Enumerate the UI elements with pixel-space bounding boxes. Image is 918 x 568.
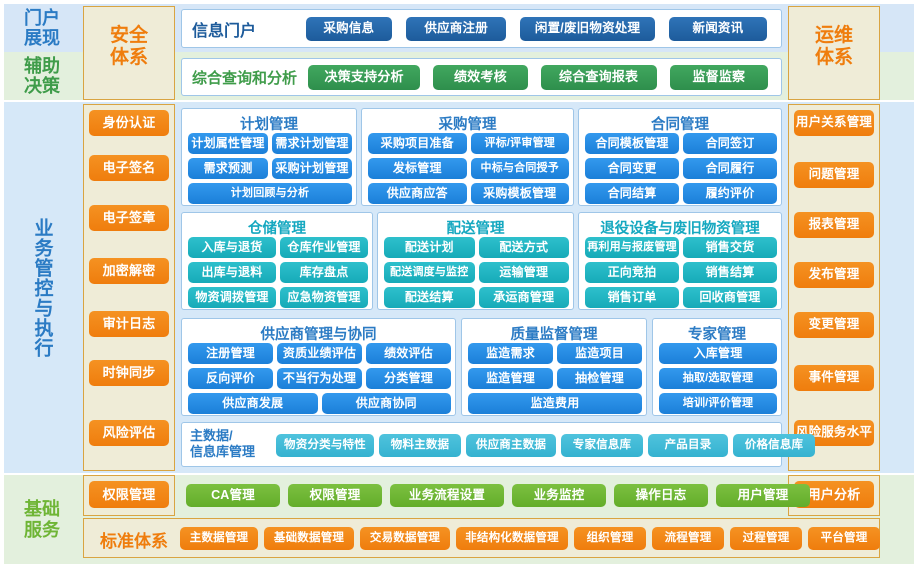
master-data-item-4[interactable]: 产品目录 bbox=[648, 434, 728, 457]
group-r2-2-item-2-0[interactable]: 销售订单 bbox=[585, 287, 679, 308]
group-r3-2: 专家管理入库管理抽取/选取管理培训/评价管理 bbox=[652, 318, 782, 416]
group-r3-1-item-0-0[interactable]: 监造需求 bbox=[468, 343, 553, 364]
group-r1-1-item-1-1[interactable]: 中标与合同授予 bbox=[471, 158, 570, 179]
group-r2-0-item-2-0[interactable]: 物资调拨管理 bbox=[188, 287, 276, 308]
group-r2-0-title: 仓储管理 bbox=[182, 217, 372, 238]
base-service-item-0[interactable]: CA管理 bbox=[186, 484, 280, 507]
group-r1-1-title: 采购管理 bbox=[362, 113, 573, 134]
group-r2-2-item-2-1[interactable]: 回收商管理 bbox=[683, 287, 777, 308]
portal-strip-title: 信息门户 bbox=[192, 17, 306, 41]
architecture-diagram: 门户展现辅助决策业务管控与执行基础服务安全体系身份认证电子签名电子签章加密解密审… bbox=[0, 0, 918, 568]
group-r2-0-item-2-1[interactable]: 应急物资管理 bbox=[280, 287, 368, 308]
ops-item-5[interactable]: 事件管理 bbox=[794, 365, 874, 391]
group-r3-1-title: 质量监督管理 bbox=[462, 323, 646, 344]
group-r1-2-item-2-1[interactable]: 履约评价 bbox=[683, 183, 777, 204]
left-label-base: 基础服务 bbox=[8, 477, 76, 562]
decision-strip-title: 综合查询和分析 bbox=[192, 67, 308, 88]
security-item-6[interactable]: 风险评估 bbox=[89, 420, 169, 446]
group-r3-0-item-1-1[interactable]: 不当行为处理 bbox=[277, 368, 362, 389]
portal-item-1[interactable]: 供应商注册 bbox=[406, 17, 506, 41]
ops-item-2[interactable]: 报表管理 bbox=[794, 212, 874, 238]
security-item-7[interactable]: 权限管理 bbox=[89, 481, 169, 508]
group-r2-0-item-1-1[interactable]: 库存盘点 bbox=[280, 262, 368, 283]
group-r3-1: 质量监督管理监造需求监造项目监造管理抽检管理监造费用 bbox=[461, 318, 647, 416]
group-r2-0-item-0-0[interactable]: 入库与退货 bbox=[188, 237, 276, 258]
ops-item-1[interactable]: 问题管理 bbox=[794, 162, 874, 188]
group-r1-1-item-2-0[interactable]: 供应商应答 bbox=[368, 183, 467, 204]
decision-strip: 综合查询和分析决策支持分析绩效考核综合查询报表监督监察 bbox=[181, 58, 782, 96]
group-r1-0-title: 计划管理 bbox=[182, 113, 356, 134]
portal-item-3[interactable]: 新闻资讯 bbox=[669, 17, 767, 41]
group-r3-2-item-1-0[interactable]: 抽取/选取管理 bbox=[659, 368, 777, 389]
group-r1-0-item-1-0[interactable]: 需求预测 bbox=[188, 158, 268, 179]
portal-strip: 信息门户采购信息供应商注册闲置/废旧物资处理新闻资讯 bbox=[181, 9, 782, 48]
group-r1-0-item-0-0[interactable]: 计划属性管理 bbox=[188, 133, 268, 154]
master-data-title: 主数据/信息库管理 bbox=[190, 428, 272, 461]
group-r2-1-item-2-1[interactable]: 承运商管理 bbox=[479, 287, 570, 308]
ops-item-3[interactable]: 发布管理 bbox=[794, 262, 874, 288]
group-r3-0: 供应商管理与协同注册管理资质业绩评估绩效评估反向评价不当行为处理分类管理供应商发… bbox=[181, 318, 456, 416]
group-r3-0-item-2-1[interactable]: 供应商协同 bbox=[322, 393, 452, 414]
group-r1-2-item-1-1[interactable]: 合同履行 bbox=[683, 158, 777, 179]
security-item-3[interactable]: 加密解密 bbox=[89, 258, 169, 284]
group-r3-2-title: 专家管理 bbox=[653, 323, 781, 344]
standard-item-6[interactable]: 过程管理 bbox=[730, 527, 802, 550]
master-data-item-0[interactable]: 物资分类与特性 bbox=[276, 434, 374, 457]
group-r1-1-item-2-1[interactable]: 采购模板管理 bbox=[471, 183, 570, 204]
master-data-item-1[interactable]: 物料主数据 bbox=[379, 434, 461, 457]
master-data-item-5[interactable]: 价格信息库 bbox=[733, 434, 815, 457]
group-r3-1-item-0-1[interactable]: 监造项目 bbox=[557, 343, 642, 364]
group-r2-0-item-1-0[interactable]: 出库与退料 bbox=[188, 262, 276, 283]
decision-item-1[interactable]: 绩效考核 bbox=[433, 65, 527, 90]
base-service-item-4[interactable]: 操作日志 bbox=[614, 484, 708, 507]
portal-item-0[interactable]: 采购信息 bbox=[306, 17, 393, 41]
group-r1-0: 计划管理计划属性管理需求计划管理需求预测采购计划管理计划回顾与分析 bbox=[181, 108, 357, 206]
master-data-item-2[interactable]: 供应商主数据 bbox=[466, 434, 556, 457]
standard-item-5[interactable]: 流程管理 bbox=[652, 527, 724, 550]
group-r1-0-item-0-1[interactable]: 需求计划管理 bbox=[272, 133, 352, 154]
master-data-card: 主数据/信息库管理物资分类与特性物料主数据供应商主数据专家信息库产品目录价格信息… bbox=[181, 422, 782, 467]
standard-item-3[interactable]: 非结构化数据管理 bbox=[456, 527, 568, 550]
base-service-item-1[interactable]: 权限管理 bbox=[288, 484, 382, 507]
group-r3-1-item-1-1[interactable]: 抽检管理 bbox=[557, 368, 642, 389]
decision-item-0[interactable]: 决策支持分析 bbox=[308, 65, 420, 90]
group-r2-1-item-0-1[interactable]: 配送方式 bbox=[479, 237, 570, 258]
group-r1-2-item-0-1[interactable]: 合同签订 bbox=[683, 133, 777, 154]
ops-column-title: 运维体系 bbox=[788, 18, 880, 76]
standard-item-1[interactable]: 基础数据管理 bbox=[264, 527, 354, 550]
group-r3-1-item-2-0[interactable]: 监造费用 bbox=[468, 393, 642, 414]
group-r3-0-item-1-0[interactable]: 反向评价 bbox=[188, 368, 273, 389]
group-r2-0: 仓储管理入库与退货仓库作业管理出库与退料库存盘点物资调拨管理应急物资管理 bbox=[181, 212, 373, 310]
master-data-item-3[interactable]: 专家信息库 bbox=[561, 434, 643, 457]
group-r3-2-item-0-0[interactable]: 入库管理 bbox=[659, 343, 777, 364]
group-r1-0-item-2-0[interactable]: 计划回顾与分析 bbox=[188, 183, 352, 204]
ops-item-0[interactable]: 用户关系管理 bbox=[794, 110, 874, 136]
base-service-item-3[interactable]: 业务监控 bbox=[512, 484, 606, 507]
group-r2-1-item-2-0[interactable]: 配送结算 bbox=[384, 287, 475, 308]
group-r1-1-item-1-0[interactable]: 发标管理 bbox=[368, 158, 467, 179]
group-r1-1-item-0-1[interactable]: 评标/评审管理 bbox=[471, 133, 570, 154]
group-r1-0-item-1-1[interactable]: 采购计划管理 bbox=[272, 158, 352, 179]
portal-item-2[interactable]: 闲置/废旧物资处理 bbox=[520, 17, 655, 41]
decision-item-2[interactable]: 综合查询报表 bbox=[541, 65, 657, 90]
standard-item-4[interactable]: 组织管理 bbox=[574, 527, 646, 550]
standard-item-7[interactable]: 平台管理 bbox=[808, 527, 880, 550]
group-r3-0-item-0-1[interactable]: 资质业绩评估 bbox=[277, 343, 362, 364]
decision-item-3[interactable]: 监督监察 bbox=[670, 65, 768, 90]
group-r1-2-item-2-0[interactable]: 合同结算 bbox=[585, 183, 679, 204]
group-r2-2-title: 退役设备与废旧物资管理 bbox=[579, 217, 781, 238]
group-r3-0-item-2-0[interactable]: 供应商发展 bbox=[188, 393, 318, 414]
security-item-4[interactable]: 审计日志 bbox=[89, 311, 169, 337]
group-r3-0-item-0-2[interactable]: 绩效评估 bbox=[366, 343, 451, 364]
group-r1-1-item-0-0[interactable]: 采购项目准备 bbox=[368, 133, 467, 154]
security-column-title: 安全体系 bbox=[83, 18, 175, 76]
ops-item-4[interactable]: 变更管理 bbox=[794, 312, 874, 338]
group-r2-2-item-0-1[interactable]: 销售交货 bbox=[683, 237, 777, 258]
standard-item-0[interactable]: 主数据管理 bbox=[180, 527, 258, 550]
group-r1-2-item-1-0[interactable]: 合同变更 bbox=[585, 158, 679, 179]
group-r2-2-item-0-0[interactable]: 再利用与报废管理 bbox=[585, 237, 679, 258]
security-item-0[interactable]: 身份认证 bbox=[89, 110, 169, 136]
base-service-item-5[interactable]: 用户管理 bbox=[716, 484, 810, 507]
group-r3-1-item-1-0[interactable]: 监造管理 bbox=[468, 368, 553, 389]
standard-row-title: 标准体系 bbox=[90, 527, 178, 549]
group-r2-1: 配送管理配送计划配送方式配送调度与监控运输管理配送结算承运商管理 bbox=[377, 212, 574, 310]
group-r2-2-item-1-1[interactable]: 销售结算 bbox=[683, 262, 777, 283]
group-r2-1-item-1-0[interactable]: 配送调度与监控 bbox=[384, 262, 475, 283]
group-r3-0-title: 供应商管理与协同 bbox=[182, 323, 455, 344]
group-r2-1-item-1-1[interactable]: 运输管理 bbox=[479, 262, 570, 283]
group-r2-1-title: 配送管理 bbox=[378, 217, 573, 238]
security-item-5[interactable]: 时钟同步 bbox=[89, 360, 169, 386]
group-r1-1: 采购管理采购项目准备评标/评审管理发标管理中标与合同授予供应商应答采购模板管理 bbox=[361, 108, 574, 206]
left-label-decision: 辅助决策 bbox=[8, 54, 76, 98]
group-r1-2: 合同管理合同模板管理合同签订合同变更合同履行合同结算履约评价 bbox=[578, 108, 782, 206]
left-label-portal: 门户展现 bbox=[8, 6, 76, 50]
base-service-item-2[interactable]: 业务流程设置 bbox=[390, 484, 504, 507]
group-r3-0-item-1-2[interactable]: 分类管理 bbox=[366, 368, 451, 389]
security-item-1[interactable]: 电子签名 bbox=[89, 155, 169, 181]
group-r2-0-item-0-1[interactable]: 仓库作业管理 bbox=[280, 237, 368, 258]
group-r2-2-item-1-0[interactable]: 正向竞拍 bbox=[585, 262, 679, 283]
group-r3-2-item-2-0[interactable]: 培训/评价管理 bbox=[659, 393, 777, 414]
group-r1-2-title: 合同管理 bbox=[579, 113, 781, 134]
group-r3-0-item-0-0[interactable]: 注册管理 bbox=[188, 343, 273, 364]
left-label-business: 业务管控与执行 bbox=[8, 104, 76, 471]
group-r2-1-item-0-0[interactable]: 配送计划 bbox=[384, 237, 475, 258]
security-item-2[interactable]: 电子签章 bbox=[89, 205, 169, 231]
standard-item-2[interactable]: 交易数据管理 bbox=[360, 527, 450, 550]
group-r2-2: 退役设备与废旧物资管理再利用与报废管理销售交货正向竞拍销售结算销售订单回收商管理 bbox=[578, 212, 782, 310]
group-r1-2-item-0-0[interactable]: 合同模板管理 bbox=[585, 133, 679, 154]
